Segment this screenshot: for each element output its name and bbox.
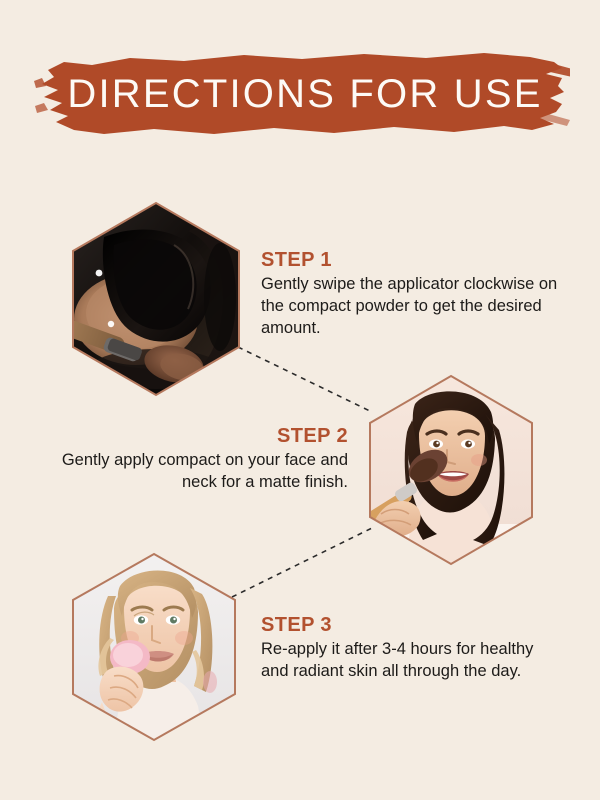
step-3-body: Re-apply it after 3-4 hours for healthy … (261, 639, 561, 683)
step-2-label: STEP 2 (38, 425, 348, 447)
step-1-image-hexagon (70, 201, 242, 397)
step-1-body: Gently swipe the applicator clockwise on… (261, 274, 561, 339)
step-2-text-block: STEP 2 Gently apply compact on your face… (38, 425, 348, 494)
step-3-label: STEP 3 (261, 614, 561, 636)
woman-applying-powder-with-puff-icon (70, 552, 238, 742)
step-1-text-block: STEP 1 Gently swipe the applicator clock… (261, 249, 561, 339)
step-2-image-hexagon (367, 374, 535, 566)
directions-for-use-page: DIRECTIONS FOR USE (0, 0, 600, 800)
woman-applying-compact-with-brush-icon (367, 374, 535, 566)
compact-powder-with-brush-icon (70, 201, 242, 397)
connector-step1-step2 (238, 347, 372, 412)
header-banner: DIRECTIONS FOR USE (34, 48, 570, 140)
connector-step3-step2 (232, 528, 372, 597)
page-title: DIRECTIONS FOR USE (34, 48, 570, 140)
step-3-text-block: STEP 3 Re-apply it after 3-4 hours for h… (261, 614, 561, 683)
step-3-image-hexagon (70, 552, 238, 742)
step-2-body: Gently apply compact on your face and ne… (38, 450, 348, 494)
step-1-label: STEP 1 (261, 249, 561, 271)
